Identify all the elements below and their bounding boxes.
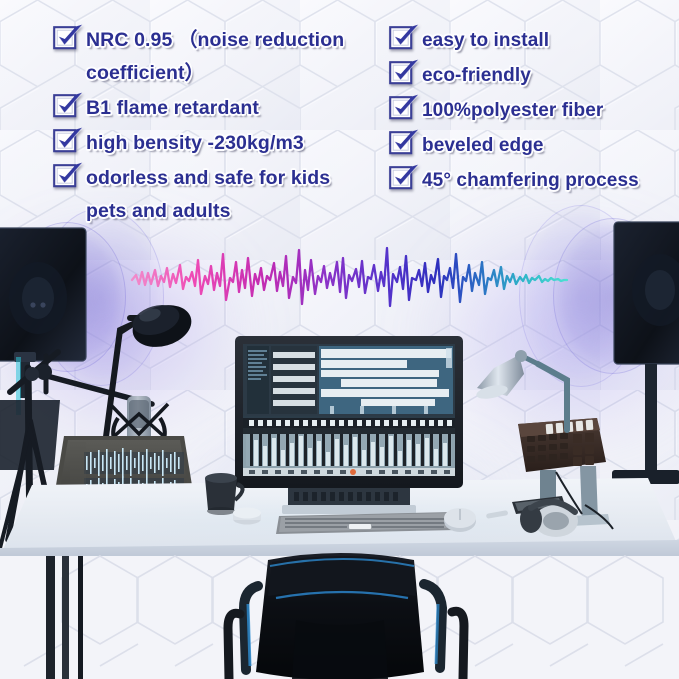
checkbox-checked-icon[interactable] [52,27,77,50]
feature-item-flame[interactable]: B1 flame retardant [52,92,382,125]
feature-label: B1 flame retardant [86,92,259,125]
checkbox-checked-icon[interactable] [388,62,413,85]
feature-item-chamfer[interactable]: 45° chamfering process [388,164,678,197]
checkbox-checked-icon[interactable] [52,95,77,118]
checkbox-checked-icon[interactable] [388,27,413,50]
feature-list-right: easy to install eco-friendly [388,24,678,199]
feature-label: easy to install [422,24,549,57]
desktop-monitor-daw [235,336,463,514]
feature-label: odorless and safe for kids pets and adul… [86,162,330,228]
feature-item-density[interactable]: high bensity -230kg/m3 [52,127,382,160]
checkbox-checked-icon[interactable] [388,132,413,155]
audio-waveform [0,232,679,324]
feature-label: eco-friendly [422,59,531,92]
checkbox-checked-icon[interactable] [52,165,77,188]
feature-list-left: NRC 0.95 （noise reduction coefficient） B… [52,24,382,230]
checkbox-checked-icon[interactable] [388,167,413,190]
feature-label: NRC 0.95 （noise reduction coefficient） [86,24,344,90]
feature-item-install[interactable]: easy to install [388,24,678,57]
feature-label: beveled edge [422,129,544,162]
silver-desk-lamp [475,350,567,430]
feature-item-odorless[interactable]: odorless and safe for kids pets and adul… [52,162,382,228]
product-feature-image: NRC 0.95 （noise reduction coefficient） B… [0,0,679,679]
feature-label: 45° chamfering process [422,164,639,197]
feature-label: high bensity -230kg/m3 [86,127,304,160]
checkbox-checked-icon[interactable] [52,130,77,153]
desk-puck [233,508,261,525]
checkbox-checked-icon[interactable] [388,97,413,120]
feature-item-nrc[interactable]: NRC 0.95 （noise reduction coefficient） [52,24,382,90]
feature-label: 100%polyester fiber [422,94,603,127]
computer-mouse [444,508,476,532]
feature-item-beveled[interactable]: beveled edge [388,129,678,162]
feature-item-eco[interactable]: eco-friendly [388,59,678,92]
feature-item-polyester[interactable]: 100%polyester fiber [388,94,678,127]
